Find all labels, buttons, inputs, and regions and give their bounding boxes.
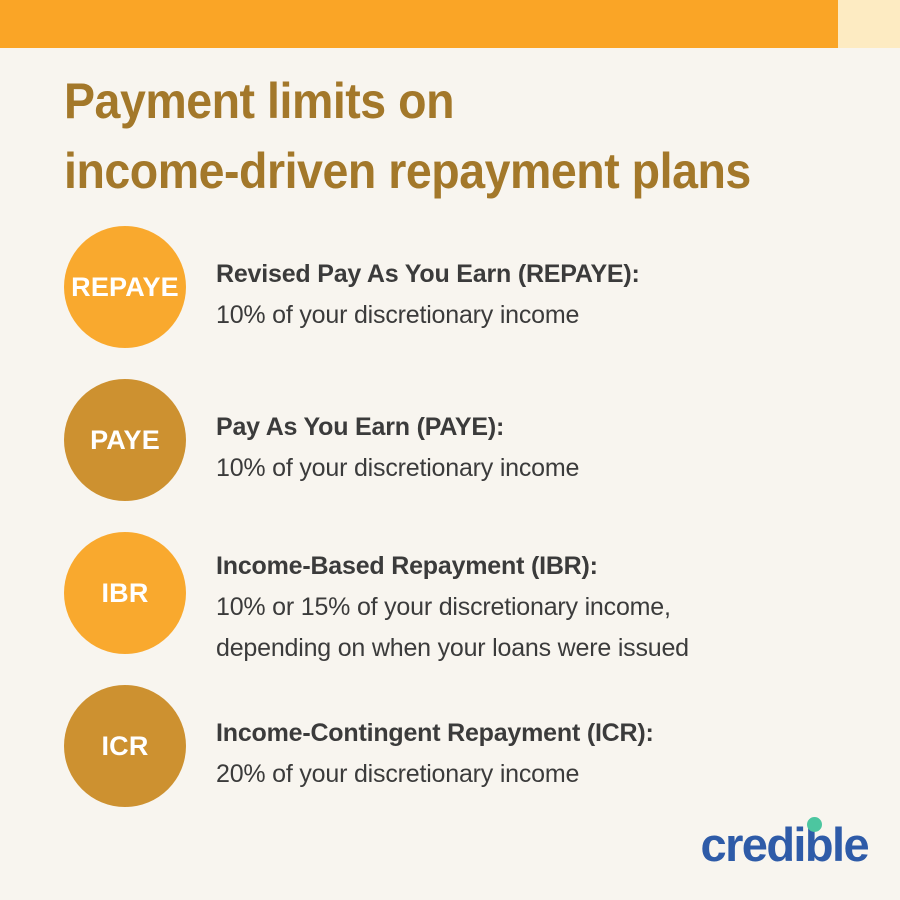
plan-badge-label: IBR <box>101 580 148 607</box>
plan-text-repaye: Revised Pay As You Earn (REPAYE): 10% of… <box>216 226 900 336</box>
plan-badge-icr: ICR <box>64 685 186 807</box>
plan-text-icr: Income-Contingent Repayment (ICR): 20% o… <box>216 685 900 795</box>
credible-logo-wordmark: credible <box>701 821 868 868</box>
credible-logo: credible <box>701 821 868 868</box>
plan-title: Income-Based Repayment (IBR): <box>216 546 900 587</box>
plan-title: Revised Pay As You Earn (REPAYE): <box>216 254 900 295</box>
plan-badge-label: ICR <box>101 733 148 760</box>
plan-title: Income-Contingent Repayment (ICR): <box>216 713 900 754</box>
plan-list: REPAYE Revised Pay As You Earn (REPAYE):… <box>0 226 900 838</box>
plan-description-line: 10% of your discretionary income <box>216 448 900 489</box>
plan-text-paye: Pay As You Earn (PAYE): 10% of your disc… <box>216 379 900 489</box>
plan-badge-paye: PAYE <box>64 379 186 501</box>
credible-logo-text: credible <box>701 818 868 871</box>
plan-description-line: 10% of your discretionary income <box>216 295 900 336</box>
plan-row-repaye: REPAYE Revised Pay As You Earn (REPAYE):… <box>0 226 900 379</box>
plan-badge-label: REPAYE <box>71 274 179 301</box>
plan-row-icr: ICR Income-Contingent Repayment (ICR): 2… <box>0 685 900 838</box>
plan-description-line: 20% of your discretionary income <box>216 754 900 795</box>
plan-title: Pay As You Earn (PAYE): <box>216 407 900 448</box>
plan-badge-ibr: IBR <box>64 532 186 654</box>
page-title-line-2: income-driven repayment plans <box>64 136 808 206</box>
infographic-canvas: Payment limits on income-driven repaymen… <box>0 0 900 900</box>
page-title-line-1: Payment limits on <box>64 66 808 136</box>
top-accent-bar-primary <box>0 0 838 48</box>
page-title: Payment limits on income-driven repaymen… <box>64 66 864 206</box>
top-accent-bar-secondary <box>838 0 900 48</box>
plan-badge-label: PAYE <box>90 427 160 454</box>
plan-text-ibr: Income-Based Repayment (IBR): 10% or 15%… <box>216 532 900 669</box>
top-accent-bar <box>0 0 900 48</box>
plan-badge-repaye: REPAYE <box>64 226 186 348</box>
plan-row-paye: PAYE Pay As You Earn (PAYE): 10% of your… <box>0 379 900 532</box>
plan-description-line: depending on when your loans were issued <box>216 628 900 669</box>
plan-description-line: 10% or 15% of your discretionary income, <box>216 587 900 628</box>
plan-row-ibr: IBR Income-Based Repayment (IBR): 10% or… <box>0 532 900 685</box>
credible-logo-dot-icon <box>807 817 822 832</box>
